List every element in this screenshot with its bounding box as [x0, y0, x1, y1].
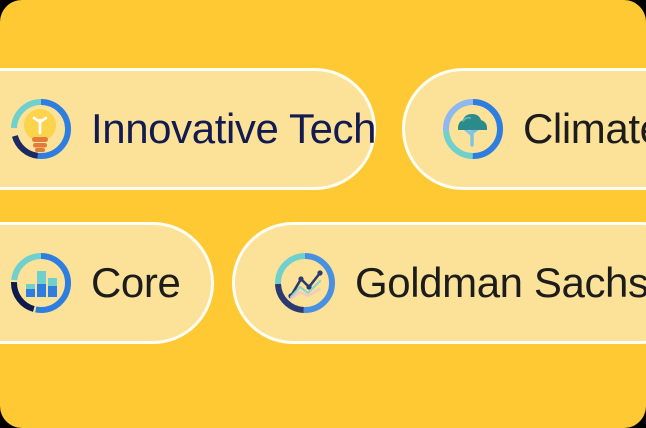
pill-core[interactable]: Core	[0, 222, 214, 344]
pill-label: Innovative Tech	[91, 108, 376, 150]
pill-goldman-sachs[interactable]: Goldman Sachs	[232, 222, 646, 344]
tag-pills-card: Innovative Tech Climate	[0, 0, 646, 428]
pill-innovative-tech[interactable]: Innovative Tech	[0, 68, 376, 190]
pill-row-top: Innovative Tech Climate	[0, 68, 646, 190]
line-chart-icon	[273, 251, 337, 315]
tree-icon	[441, 97, 505, 161]
pill-label: Goldman Sachs	[355, 262, 646, 304]
pill-label: Climate	[523, 108, 646, 150]
pill-label: Core	[91, 262, 180, 304]
lightbulb-icon	[9, 97, 73, 161]
pill-row-bottom: Core Goldman Sachs	[0, 222, 646, 344]
bar-chart-icon	[9, 251, 73, 315]
pill-climate-tech[interactable]: Climate	[402, 68, 646, 190]
